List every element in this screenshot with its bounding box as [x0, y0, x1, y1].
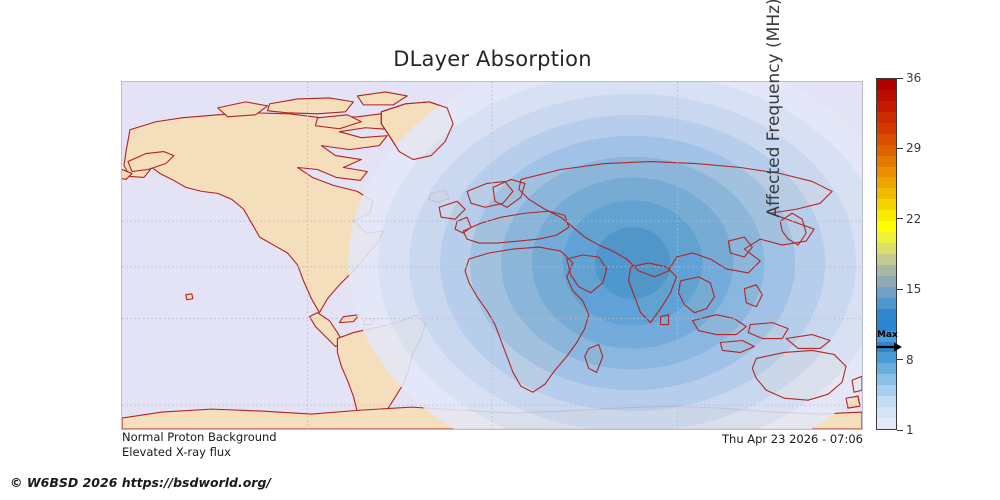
map-plot-area[interactable] [121, 81, 863, 430]
colorbar-band-30 [877, 407, 896, 418]
colorbar-band-11 [877, 199, 896, 210]
colorbar[interactable] [876, 78, 897, 430]
copyright-credit: © W6BSD 2026 https://bsdworld.org/ [10, 475, 271, 490]
colorbar-tick-36: 36 [897, 70, 921, 86]
tick-value: 15 [906, 282, 921, 296]
colorbar-tick-22: 22 [897, 211, 921, 227]
colorbar-band-2 [877, 101, 896, 112]
colorbar-band-24 [877, 342, 896, 353]
colorbar-gradient [876, 78, 897, 430]
tick-dash-icon [897, 218, 903, 219]
tick-dash-icon [897, 78, 903, 79]
page-title: DLayer Absorption [0, 47, 985, 71]
colorbar-band-12 [877, 210, 896, 221]
tick-value: 1 [906, 423, 914, 437]
colorbar-band-9 [877, 177, 896, 188]
colorbar-band-22 [877, 320, 896, 331]
colorbar-band-4 [877, 123, 896, 134]
colorbar-band-19 [877, 287, 896, 298]
tick-value: 29 [906, 141, 921, 155]
colorbar-axis-label: Affected Frequency (MHz) [759, 0, 789, 284]
tick-dash-icon [897, 430, 903, 431]
tick-value: 36 [906, 71, 921, 85]
colorbar-band-18 [877, 276, 896, 287]
timestamp-label: Thu Apr 23 2026 - 07:06 [722, 432, 863, 446]
colorbar-tick-8: 8 [897, 352, 914, 368]
colorbar-tick-29: 29 [897, 140, 921, 156]
tick-value: 22 [906, 212, 921, 226]
colorbar-band-31 [877, 418, 896, 429]
colorbar-band-23 [877, 331, 896, 342]
map-canvas [122, 82, 862, 429]
colorbar-band-6 [877, 145, 896, 156]
proton-status-note: Normal Proton Background [122, 430, 277, 444]
colorbar-band-29 [877, 396, 896, 407]
colorbar-band-8 [877, 167, 896, 178]
colorbar-band-0 [877, 79, 896, 90]
colorbar-band-16 [877, 254, 896, 265]
tick-value: 8 [906, 353, 914, 367]
colorbar-band-25 [877, 352, 896, 363]
colorbar-tick-15: 15 [897, 281, 921, 297]
colorbar-band-7 [877, 156, 896, 167]
colorbar-band-28 [877, 385, 896, 396]
colorbar-band-14 [877, 232, 896, 243]
colorbar-band-15 [877, 243, 896, 254]
colorbar-band-21 [877, 309, 896, 320]
colorbar-band-20 [877, 298, 896, 309]
xray-status-note: Elevated X-ray flux [122, 445, 231, 459]
colorbar-band-3 [877, 112, 896, 123]
colorbar-band-26 [877, 363, 896, 374]
world-map-coastlines [122, 82, 862, 429]
colorbar-band-13 [877, 221, 896, 232]
colorbar-tick-labels: 3629221581 [897, 70, 957, 440]
colorbar-band-17 [877, 265, 896, 276]
tick-dash-icon [897, 289, 903, 290]
colorbar-band-5 [877, 134, 896, 145]
tick-dash-icon [897, 148, 903, 149]
colorbar-tick-1: 1 [897, 422, 914, 438]
colorbar-band-1 [877, 90, 896, 101]
tick-dash-icon [897, 359, 903, 360]
colorbar-band-27 [877, 374, 896, 385]
colorbar-band-10 [877, 188, 896, 199]
